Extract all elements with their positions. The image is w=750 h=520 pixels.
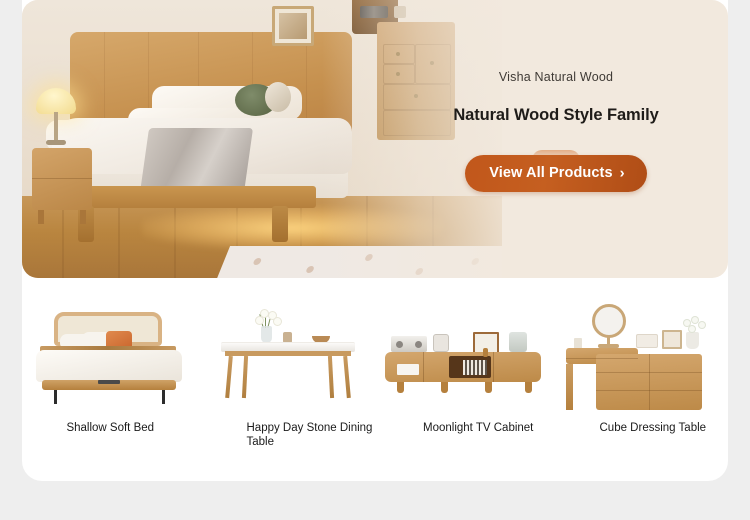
lamp-stem: [54, 112, 58, 142]
round-mirror-icon: [592, 304, 626, 338]
product-card-shallow-soft-bed[interactable]: Shallow Soft Bed: [22, 290, 199, 470]
wall-picture-frame: [272, 6, 314, 46]
product-image-tv-cabinet: [375, 290, 552, 410]
product-list: Shallow Soft Bed Hap: [22, 290, 728, 470]
flower-icon: [684, 320, 690, 326]
bed-frame: [66, 186, 316, 208]
flower-icon: [699, 322, 705, 328]
flower-icon: [261, 310, 268, 317]
vase-icon: [686, 332, 699, 349]
speaker-icon: [433, 334, 449, 352]
product-duvet: [36, 350, 182, 382]
product-card-happy-day-stone-dining-table[interactable]: Happy Day Stone Dining Table: [199, 290, 376, 470]
flower-icon: [274, 318, 281, 325]
cabinet-knob: [483, 348, 488, 357]
flower-icon: [689, 326, 695, 332]
hero-copy: Visha Natural Wood Natural Wood Style Fa…: [406, 70, 706, 192]
nightstand: [32, 148, 92, 210]
product-image-dining-table: [199, 290, 376, 410]
product-label: Happy Day Stone Dining Table: [199, 422, 376, 449]
chevron-right-icon: ›: [620, 165, 625, 180]
jewelry-box-icon: [636, 334, 658, 348]
product-image-dressing-table: [552, 290, 729, 410]
cushion-accent: [265, 82, 291, 112]
view-all-products-button[interactable]: View All Products ›: [465, 155, 646, 192]
hero-kicker: Visha Natural Wood: [406, 70, 706, 84]
product-label: Moonlight TV Cabinet: [375, 422, 552, 436]
product-label: Cube Dressing Table: [552, 422, 729, 436]
vase-icon: [261, 326, 272, 343]
hero-title: Natural Wood Style Family: [406, 106, 706, 125]
bed-leg: [272, 206, 288, 242]
desk-leg: [566, 364, 573, 410]
shelf-paper: [397, 364, 419, 375]
lamp-base: [46, 140, 66, 145]
flower-icon: [256, 317, 263, 324]
product-card-cube-dressing-table[interactable]: Cube Dressing Table: [552, 290, 729, 470]
shelf-books-icon: [463, 360, 487, 375]
page-root: Visha Natural Wood Natural Wood Style Fa…: [0, 0, 750, 520]
product-card-moonlight-tv-cabinet[interactable]: Moonlight TV Cabinet: [375, 290, 552, 470]
view-all-products-label: View All Products: [489, 165, 612, 181]
plant-icon: [509, 332, 527, 352]
hero-banner[interactable]: Visha Natural Wood Natural Wood Style Fa…: [22, 0, 728, 278]
flower-icon: [692, 317, 698, 323]
product-image-bed: [22, 290, 199, 410]
product-bed-handle: [98, 380, 120, 384]
picture-frame-icon: [662, 330, 682, 349]
product-label: Shallow Soft Bed: [22, 422, 199, 436]
cta-wrapper: View All Products ›: [465, 155, 646, 192]
